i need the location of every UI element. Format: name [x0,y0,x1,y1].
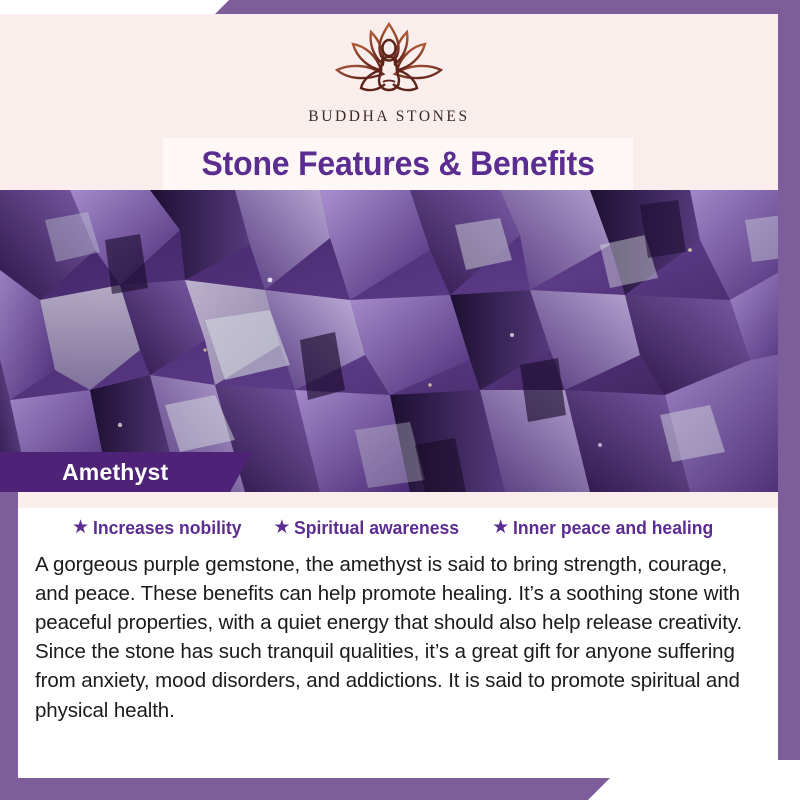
benefit-item: ★ Increases nobility [72,517,249,539]
stone-name-banner: Amethyst [0,452,252,492]
hero-image [0,190,800,492]
stone-description: A gorgeous purple gemstone, the amethyst… [35,550,758,725]
infographic-page: BUDDHA STONES Stone Features & Benefits [0,0,800,800]
benefit-label: Inner peace and healing [513,517,713,539]
cream-separator [18,492,778,508]
star-icon: ★ [492,518,509,537]
decor-bottom-bar [0,778,610,800]
benefit-label: Spiritual awareness [294,517,459,539]
lotus-meditation-figure-icon [327,20,451,104]
benefits-row: ★ Increases nobility ★ Spiritual awarene… [18,508,778,539]
page-title: Stone Features & Benefits [201,145,594,184]
content-panel: ★ Increases nobility ★ Spiritual awarene… [18,508,778,778]
brand-logo: BUDDHA STONES [0,20,778,126]
decor-top-bar [215,0,800,14]
decor-left-bar [0,492,18,800]
page-title-plate: Stone Features & Benefits [163,138,633,190]
amethyst-crystal-graphic [0,190,800,492]
benefit-item: ★ Spiritual awareness [273,517,468,539]
brand-name: BUDDHA STONES [308,108,469,126]
benefit-label: Increases nobility [93,517,241,539]
decor-right-bar [778,0,800,760]
benefit-item: ★ Inner peace and healing [492,517,724,539]
star-icon: ★ [72,518,89,537]
stone-name: Amethyst [0,459,168,486]
star-icon: ★ [273,518,290,537]
header: BUDDHA STONES Stone Features & Benefits [0,14,778,190]
